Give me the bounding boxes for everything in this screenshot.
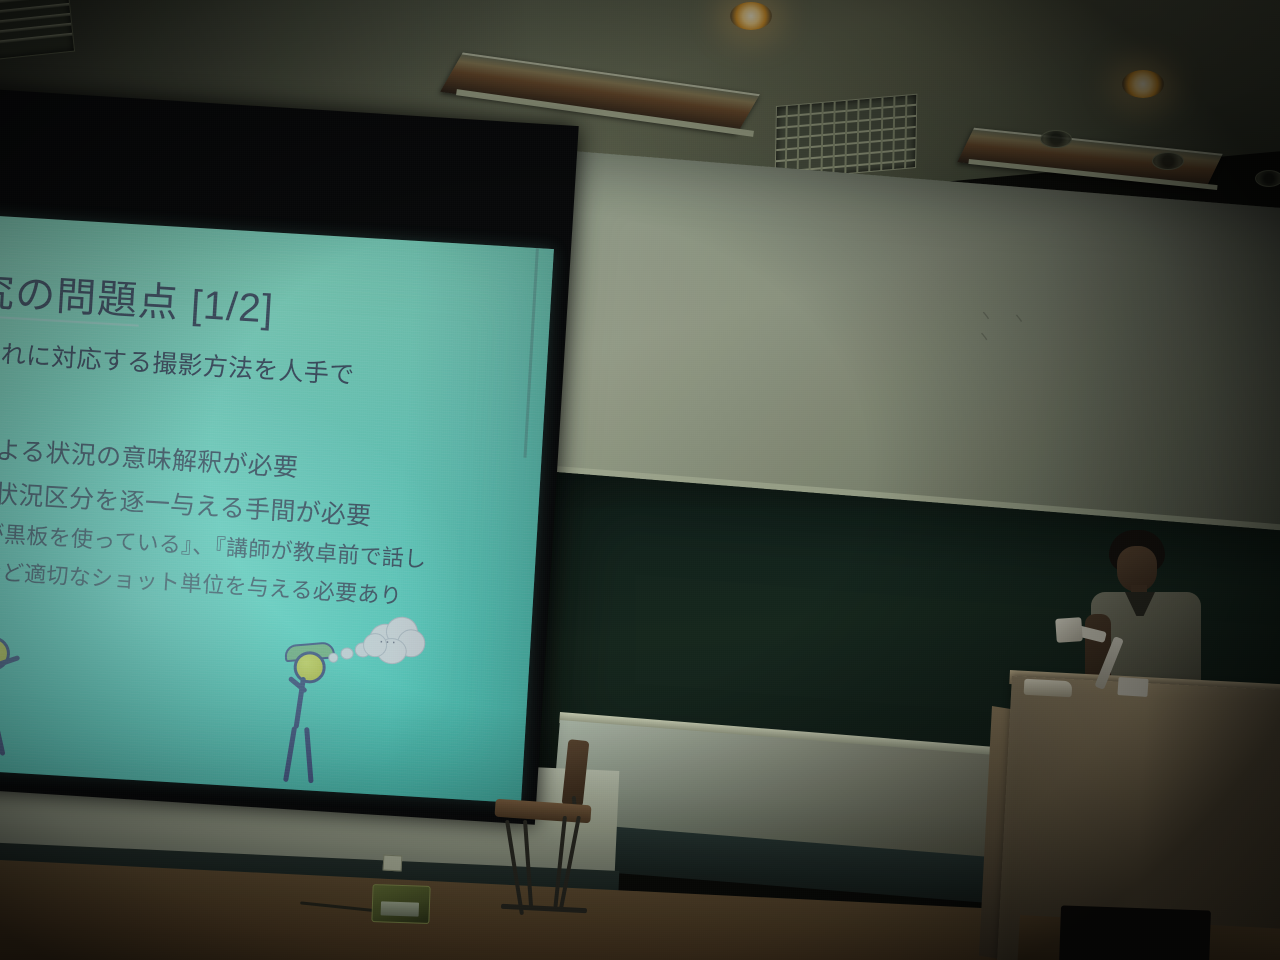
- ceiling-vent-left-icon: [0, 0, 75, 60]
- cameraman-right-leg: [304, 727, 313, 783]
- slide-body-line-1: 況とそれに対応する撮影方法を人手で: [0, 330, 356, 391]
- projection-screen: 研究の問題点 [1/2] 況とそれに対応する撮影方法を人手で 義 人手による状況…: [0, 212, 554, 803]
- wall-outlet-icon: [383, 855, 403, 872]
- chair-foot-rail: [501, 904, 587, 913]
- thought-bubble-dots: ...: [379, 629, 398, 647]
- chair-leg-back-left: [523, 820, 533, 910]
- lecture-hall-photo: ヽ ヽ ヽ 研究の問題点 [1/2] 況とそれに対応する撮影方法を人手で 義 人…: [0, 0, 1280, 960]
- front-row-desk-shadow: [1059, 905, 1211, 960]
- recessed-can-3-icon: [1255, 170, 1280, 187]
- slide-body-line-3: 人手による状況の意味解釈が必要: [0, 426, 299, 484]
- chair: [487, 740, 607, 940]
- ceiling-downlight-1-icon: [730, 2, 772, 30]
- wall-marks: ヽ ヽ ヽ: [978, 304, 1039, 327]
- recessed-can-2-icon: [1152, 152, 1184, 170]
- ceiling-downlight-2-icon: [1122, 70, 1164, 98]
- slide-title: 研究の問題点 [1/2]: [0, 256, 276, 334]
- cameraman-left-leg: [283, 726, 297, 782]
- ceiling-vent-right-icon: [775, 94, 918, 181]
- recessed-can-1-icon: [1040, 130, 1072, 148]
- green-equipment-box: [371, 884, 430, 924]
- lecturer-head: [0, 636, 11, 672]
- lecturer-right-leg: [0, 710, 6, 756]
- slide-sidebar-rule: [523, 248, 538, 458]
- cameraman-stick-figure-icon: [267, 635, 356, 789]
- chair-leg-front-left: [505, 820, 524, 915]
- lecturer-stick-figure-icon: [0, 634, 47, 769]
- gooseneck-microphone-icon: [1055, 617, 1083, 643]
- slide-content: 研究の問題点 [1/2] 況とそれに対応する撮影方法を人手で 義 人手による状況…: [0, 212, 554, 803]
- thought-bubble-icon: ...: [362, 613, 427, 667]
- microphone-base: [1117, 677, 1148, 697]
- equipment-box-label-plate: [381, 901, 419, 916]
- podium-paper: [1024, 679, 1073, 697]
